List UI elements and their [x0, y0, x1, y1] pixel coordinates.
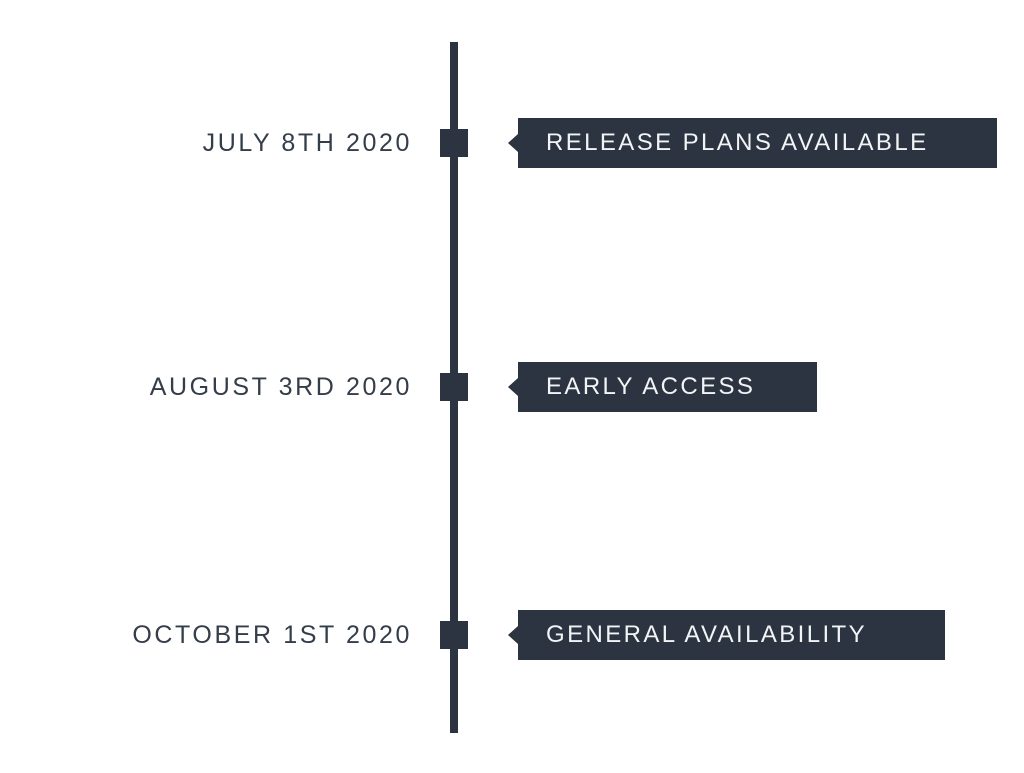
timeline-node-marker — [440, 129, 468, 157]
timeline-event: AUGUST 3RD 2020 EARLY ACCESS — [0, 362, 1024, 412]
timeline-milestone-badge[interactable]: EARLY ACCESS — [508, 362, 817, 412]
timeline-event-date: OCTOBER 1ST 2020 — [0, 610, 412, 660]
timeline-diagram: JULY 8TH 2020 RELEASE PLANS AVAILABLE AU… — [0, 0, 1024, 773]
timeline-milestone-label: EARLY ACCESS — [546, 373, 755, 401]
timeline-event-date: AUGUST 3RD 2020 — [0, 362, 412, 412]
timeline-event: JULY 8TH 2020 RELEASE PLANS AVAILABLE — [0, 118, 1024, 168]
timeline-milestone-label: RELEASE PLANS AVAILABLE — [546, 129, 928, 157]
timeline-milestone-badge[interactable]: GENERAL AVAILABILITY — [508, 610, 945, 660]
timeline-event: OCTOBER 1ST 2020 GENERAL AVAILABILITY — [0, 610, 1024, 660]
timeline-node-marker — [440, 373, 468, 401]
timeline-milestone-label: GENERAL AVAILABILITY — [546, 621, 867, 649]
timeline-milestone-badge[interactable]: RELEASE PLANS AVAILABLE — [508, 118, 997, 168]
timeline-node-marker — [440, 621, 468, 649]
timeline-event-date: JULY 8TH 2020 — [0, 118, 412, 168]
